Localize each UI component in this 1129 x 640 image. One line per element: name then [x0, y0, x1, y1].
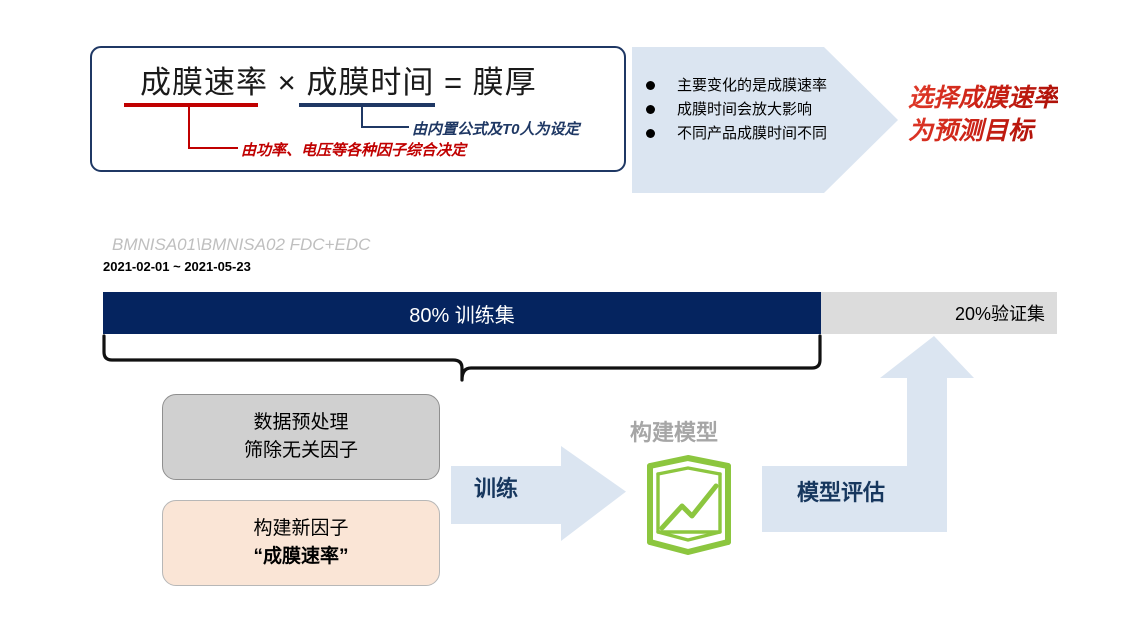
conclusion-line-1: 选择成膜速率	[908, 82, 1058, 115]
model-title: 构建模型	[630, 415, 718, 447]
insight-bullet-list: 主要变化的是成膜速率 成膜时间会放大影响 不同产品成膜时间不同	[646, 74, 846, 146]
preprocess-line-1: 数据预处理	[253, 409, 348, 437]
training-set-brace	[98, 334, 828, 382]
new-factor-line-2: “成膜速率”	[253, 543, 348, 571]
time-leader-vertical	[361, 105, 363, 127]
list-item: 不同产品成膜时间不同	[646, 122, 846, 146]
time-annotation: 由内置公式及T0人为设定	[412, 118, 580, 139]
conclusion-line-2: 为预测目标	[908, 115, 1058, 148]
rate-leader-vertical	[188, 105, 190, 147]
list-item-label: 成膜时间会放大影响	[677, 98, 812, 122]
bullet-dot-icon	[646, 129, 655, 138]
list-item-label: 主要变化的是成膜速率	[677, 74, 827, 98]
time-term-underline	[299, 103, 435, 107]
preprocess-line-2: 筛除无关因子	[244, 437, 358, 465]
rate-term-underline	[124, 103, 258, 107]
train-validation-split-bar: 80% 训练集 20%验证集	[103, 292, 1057, 334]
new-factor-box: 构建新因子 “成膜速率”	[162, 500, 440, 586]
rate-leader-horizontal	[188, 147, 238, 149]
training-set-label: 80% 训练集	[409, 299, 515, 328]
training-set-segment: 80% 训练集	[103, 292, 821, 334]
evaluate-arrow-label: 模型评估	[797, 475, 885, 507]
list-item: 主要变化的是成膜速率	[646, 74, 846, 98]
train-arrow-label: 训练	[474, 471, 518, 503]
conclusion-callout: 选择成膜速率 为预测目标	[908, 82, 1058, 148]
list-item-label: 不同产品成膜时间不同	[677, 122, 827, 146]
bullet-dot-icon	[646, 81, 655, 90]
dataset-name-label: BMNISA01\BMNISA02 FDC+EDC	[112, 235, 370, 255]
bullet-dot-icon	[646, 105, 655, 114]
list-item: 成膜时间会放大影响	[646, 98, 846, 122]
new-factor-line-1: 构建新因子	[253, 515, 348, 543]
model-cube-chart-icon	[636, 450, 742, 560]
rate-annotation: 由功率、电压等各种因子综合决定	[241, 139, 466, 160]
validation-set-label: 20%验证集	[955, 300, 1057, 326]
time-leader-horizontal	[361, 126, 409, 128]
validation-set-segment: 20%验证集	[821, 292, 1057, 334]
preprocess-box: 数据预处理 筛除无关因子	[162, 394, 440, 480]
formula-expression: 成膜速率 × 成膜时间 = 膜厚	[140, 57, 537, 102]
dataset-date-range: 2021-02-01 ~ 2021-05-23	[103, 259, 251, 274]
